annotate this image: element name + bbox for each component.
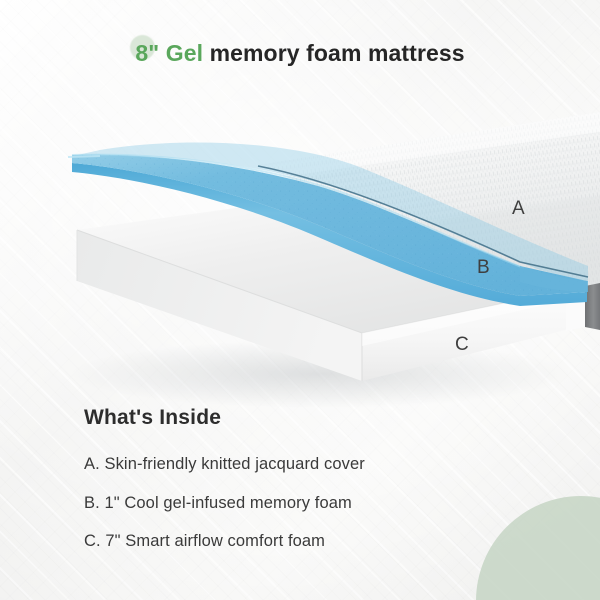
legend-item-b: B. 1" Cool gel-infused memory foam [84,495,524,512]
label-a: A [512,198,525,220]
infographic-canvas: 8" Gel memory foam mattress [0,0,600,600]
label-c: C [455,334,469,356]
legend-item-c: C. 7" Smart airflow comfort foam [84,533,524,550]
label-b: B [477,257,490,279]
whats-inside-legend: A. Skin-friendly knitted jacquard cover … [84,456,524,550]
legend-item-a: A. Skin-friendly knitted jacquard cover [84,456,524,473]
whats-inside-heading: What's Inside [84,406,221,430]
gel-tip-highlight [68,156,100,157]
